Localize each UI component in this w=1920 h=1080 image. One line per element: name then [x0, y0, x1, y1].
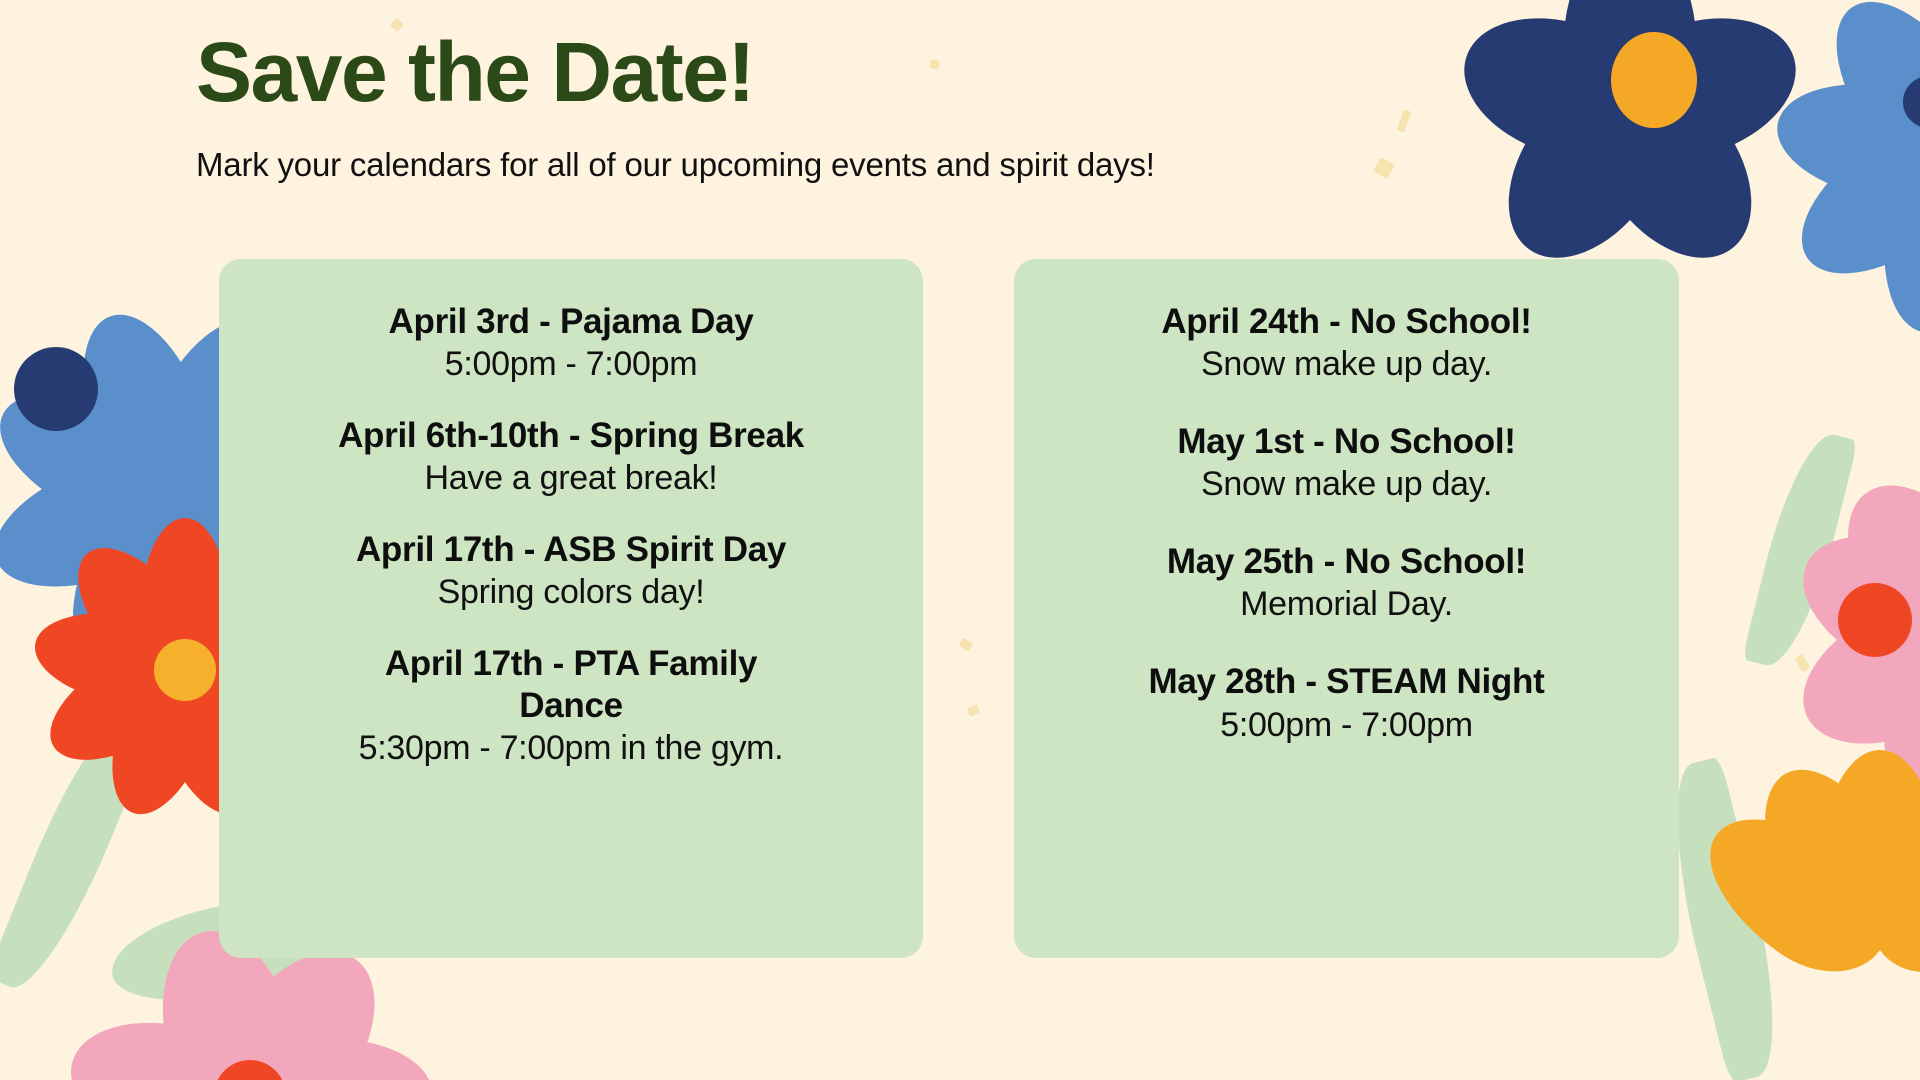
- page-subtitle: Mark your calendars for all of our upcom…: [196, 142, 1196, 189]
- event-detail: Memorial Day.: [1048, 584, 1645, 625]
- event-title: May 1st - No School!: [1048, 421, 1645, 462]
- left-events-card: April 3rd - Pajama Day 5:00pm - 7:00pm A…: [219, 259, 923, 958]
- poster-content: Save the Date! Mark your calendars for a…: [0, 0, 1920, 1080]
- event-detail: 5:00pm - 7:00pm: [1048, 705, 1645, 746]
- event-detail: 5:30pm - 7:00pm in the gym.: [253, 728, 889, 769]
- event-item: April 6th-10th - Spring Break Have a gre…: [253, 415, 889, 499]
- event-title: May 25th - No School!: [1048, 541, 1645, 582]
- event-item: May 25th - No School! Memorial Day.: [1048, 541, 1645, 625]
- event-item: May 28th - STEAM Night 5:00pm - 7:00pm: [1048, 661, 1645, 745]
- event-item: April 17th - PTA Family Dance 5:30pm - 7…: [253, 643, 889, 768]
- event-detail: Snow make up day.: [1048, 344, 1645, 385]
- event-title: April 6th-10th - Spring Break: [253, 415, 889, 456]
- page-title: Save the Date!: [196, 28, 754, 116]
- event-detail: Spring colors day!: [253, 572, 889, 613]
- poster-canvas: Save the Date! Mark your calendars for a…: [0, 0, 1920, 1080]
- event-item: April 3rd - Pajama Day 5:00pm - 7:00pm: [253, 301, 889, 385]
- event-detail: 5:00pm - 7:00pm: [253, 344, 889, 385]
- event-item: May 1st - No School! Snow make up day.: [1048, 421, 1645, 505]
- event-detail: Have a great break!: [253, 458, 889, 499]
- event-title: April 24th - No School!: [1048, 301, 1645, 342]
- event-item: April 24th - No School! Snow make up day…: [1048, 301, 1645, 385]
- event-detail: Snow make up day.: [1048, 464, 1645, 505]
- event-title: April 3rd - Pajama Day: [253, 301, 889, 342]
- event-title: April 17th - ASB Spirit Day: [253, 529, 889, 570]
- event-item: April 17th - ASB Spirit Day Spring color…: [253, 529, 889, 613]
- event-title: April 17th - PTA Family Dance: [371, 643, 771, 726]
- event-title: May 28th - STEAM Night: [1048, 661, 1645, 702]
- right-events-card: April 24th - No School! Snow make up day…: [1014, 259, 1679, 958]
